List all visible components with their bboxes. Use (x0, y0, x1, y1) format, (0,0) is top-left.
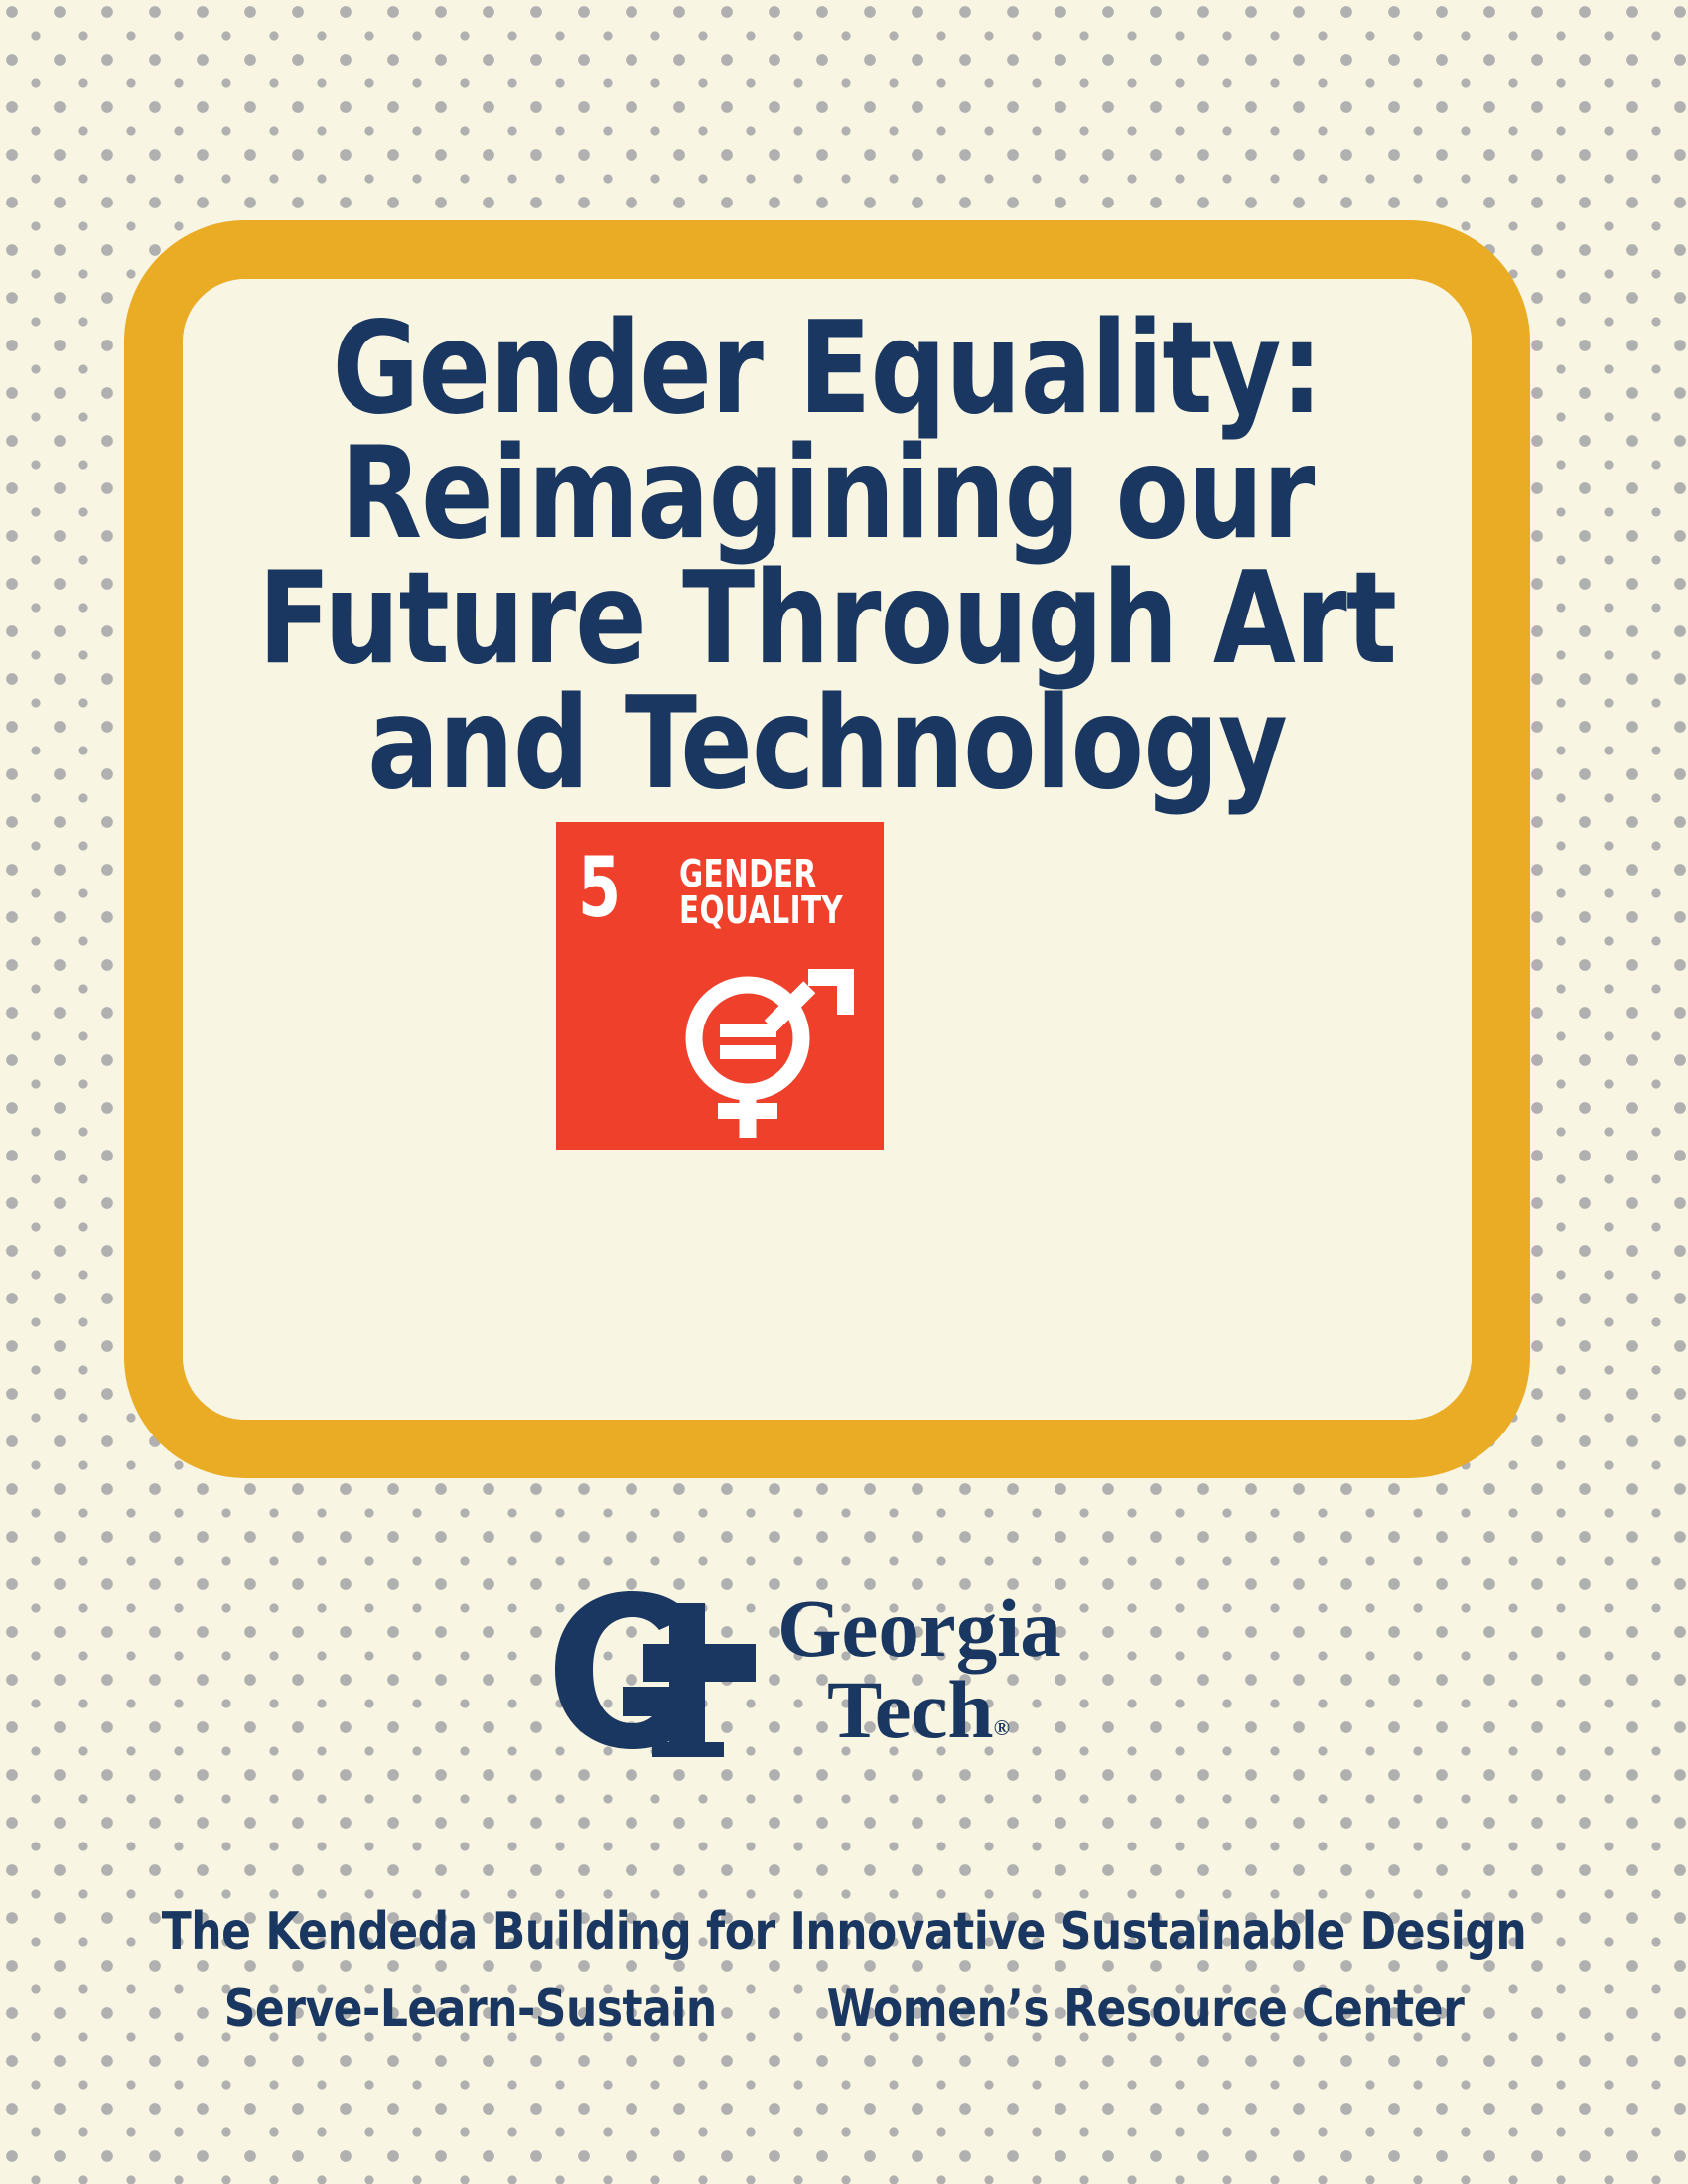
title-line-2: Reimagining our (227, 432, 1426, 557)
footer-partner-sls: Serve-Learn-Sustain (224, 1979, 717, 2040)
wordmark-georgia: Georgia (777, 1587, 1061, 1669)
poster-canvas: Gender Equality: Reimagining our Future … (0, 0, 1688, 2184)
gender-equality-symbol-icon (670, 961, 869, 1145)
footer: The Kendeda Building for Innovative Sust… (0, 1901, 1688, 2040)
title-line-1: Gender Equality: (227, 307, 1426, 432)
sdg-goal-5-badge: 5 GENDER EQUALITY (556, 822, 884, 1150)
sdg-badge-heading: 5 GENDER EQUALITY (578, 852, 870, 929)
sdg-label-line-2: EQUALITY (679, 892, 843, 929)
page-title: Gender Equality: Reimagining our Future … (227, 279, 1426, 807)
wordmark-tech: Tech® (827, 1669, 1061, 1771)
gt-monogram-icon (549, 1583, 756, 1757)
registered-mark: ® (994, 1715, 1010, 1740)
title-line-3: Future Through Art (227, 557, 1426, 682)
sdg-goal-number: 5 (578, 852, 620, 923)
gt-wordmark: Georgia Tech® (777, 1587, 1061, 1771)
footer-building-name: The Kendeda Building for Innovative Sust… (51, 1901, 1637, 1963)
sdg-goal-label: GENDER EQUALITY (679, 856, 843, 929)
footer-partner-wrc: Women’s Resource Center (827, 1979, 1465, 2040)
sdg-label-line-1: GENDER (679, 856, 843, 892)
title-line-4: and Technology (227, 682, 1426, 807)
georgia-tech-logo: Georgia Tech® (549, 1583, 1145, 1757)
wordmark-tech-text: Tech (827, 1664, 994, 1755)
footer-partners: Serve-Learn-Sustain Women’s Resource Cen… (51, 1979, 1637, 2040)
